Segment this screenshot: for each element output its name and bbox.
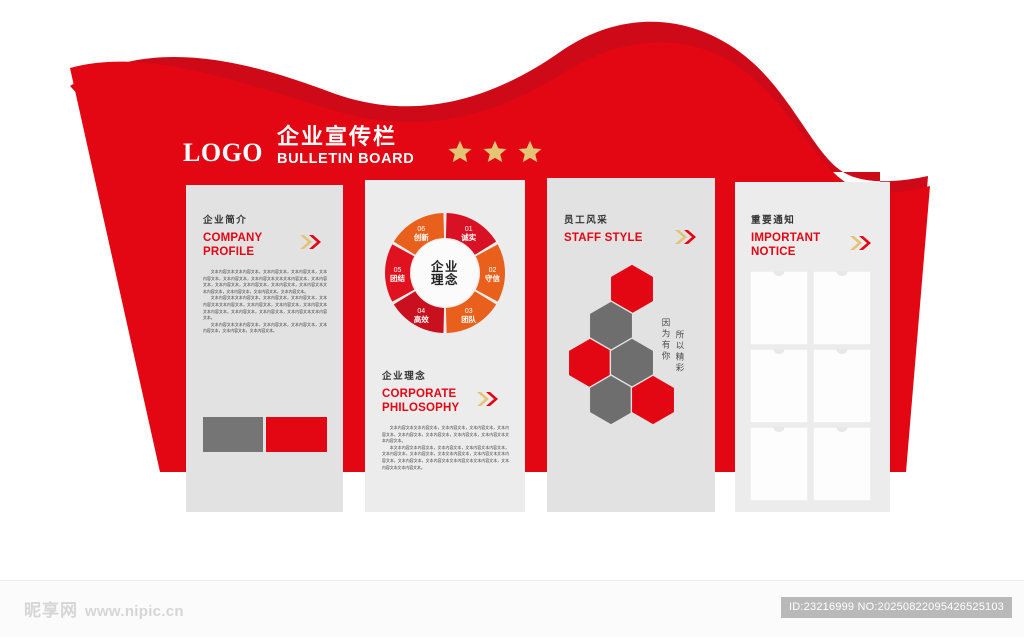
body-paragraph: 文本内容文本文本内容文本，文本内容文本，文本内容文本，文本内容文本，文本内容文本… <box>203 322 327 335</box>
body-paragraph: 本文本内容文本内容文本，文本内容文本，文本内容文本内容文本，文本内容文本，文本内… <box>382 445 509 471</box>
double-chevron-right-icon[interactable] <box>848 234 876 252</box>
philosophy-title-en: CORPORATE PHILOSOPHY <box>382 388 459 415</box>
core-values-donut-chart: 01诚实02守信03团队04高效05团结06创新企业理念 <box>380 208 510 343</box>
donut-segment-number: 05 <box>394 267 402 274</box>
staff-quote-line-2: 所以精彩 <box>673 330 686 374</box>
company-profile-title-en: COMPANY PROFILE <box>203 232 262 259</box>
donut-segment-label: 诚实 <box>461 232 476 242</box>
photo-placeholder-red <box>266 417 327 452</box>
donut-segment-label: 守信 <box>485 273 500 283</box>
star-icon <box>447 139 473 165</box>
star-icon <box>482 139 508 165</box>
notice-card-grid <box>751 272 870 500</box>
notice-card[interactable] <box>814 272 870 344</box>
donut-center-label-1: 企业 <box>430 259 459 274</box>
notice-card[interactable] <box>814 428 870 500</box>
watermark-logo: 昵享网 www.nipic.cn <box>24 596 184 621</box>
double-chevron-right-icon[interactable] <box>475 390 503 408</box>
donut-segment-number: 04 <box>417 308 425 315</box>
philosophy-title-cn: 企业理念 <box>382 372 426 382</box>
staff-quote-line-1: 因为有你 <box>659 318 672 362</box>
donut-segment-number: 01 <box>465 226 473 233</box>
watermark-site-url: www.nipic.cn <box>85 603 184 620</box>
poster-header: LOGO 企业宣传栏 BULLETIN BOARD <box>0 0 1024 180</box>
body-paragraph: 文本内容文本文本内容文本，文本内容文本，文本内容文本，文本内容文本，文本内容文本… <box>382 425 509 445</box>
watermark-bar: 昵享网 www.nipic.cn ID:23216999 NO:20250822… <box>0 580 1024 637</box>
body-paragraph: 文本内容文本文本内容文本，文本内容文本，文本内容文本，文本内容文本文本内容文本，… <box>203 295 327 321</box>
photo-placeholder-gray <box>203 417 263 452</box>
logo-text: LOGO <box>183 140 263 166</box>
star-icon <box>517 139 543 165</box>
double-chevron-right-icon[interactable] <box>673 228 701 246</box>
donut-segment-number: 02 <box>489 267 497 274</box>
donut-segment-label: 团结 <box>390 273 405 283</box>
panel-staff-style: 员工风采 STAFF STYLE 因为有你 所以精彩 <box>547 178 715 512</box>
staff-style-title-en: STAFF STYLE <box>564 232 643 246</box>
donut-segment-label: 创新 <box>413 232 429 242</box>
panel-important-notice: 重要通知 IMPORTANT NOTICE <box>735 182 890 512</box>
double-chevron-right-icon[interactable] <box>298 233 326 251</box>
company-profile-title-cn: 企业简介 <box>203 216 247 226</box>
donut-segment-label: 团队 <box>461 314 476 324</box>
philosophy-body: 文本内容文本文本内容文本，文本内容文本，文本内容文本，文本内容文本，文本内容文本… <box>382 425 509 471</box>
donut-segment-number: 06 <box>417 226 425 233</box>
donut-segment-number: 03 <box>465 308 473 315</box>
page-title-en: BULLETIN BOARD <box>277 152 414 167</box>
staff-style-title-cn: 员工风采 <box>564 216 608 226</box>
donut-segment-label: 高效 <box>414 314 429 324</box>
watermark-id-text: ID:23216999 NO:20250822095426525103 <box>781 597 1012 618</box>
notice-card[interactable] <box>751 272 807 344</box>
notice-card[interactable] <box>751 350 807 422</box>
notice-card[interactable] <box>814 350 870 422</box>
notice-title-cn: 重要通知 <box>751 216 795 226</box>
watermark-site-cn: 昵享网 <box>24 596 78 621</box>
star-rating-decoration <box>447 139 543 165</box>
bulletin-board-poster: LOGO 企业宣传栏 BULLETIN BOARD 企业简介 COMPANY P… <box>0 0 1024 637</box>
notice-card[interactable] <box>751 428 807 500</box>
company-profile-body: 文本内容文本文本内容文本，文本内容文本，文本内容文本，文本内容文本，文本内容文本… <box>203 269 327 335</box>
profile-photo-blocks <box>203 417 327 452</box>
panel-company-profile: 企业简介 COMPANY PROFILE 文本内容文本文本内容文本，文本内容文本… <box>186 185 343 512</box>
donut-center-label-2: 理念 <box>431 272 459 287</box>
page-title-cn: 企业宣传栏 <box>277 126 397 148</box>
notice-title-en: IMPORTANT NOTICE <box>751 232 820 259</box>
panel-corporate-philosophy: 01诚实02守信03团队04高效05团结06创新企业理念 企业理念 CORPOR… <box>365 180 525 512</box>
body-paragraph: 文本内容文本文本内容文本，文本内容文本，文本内容文本，文本内容文本，文本内容文本… <box>203 269 327 295</box>
